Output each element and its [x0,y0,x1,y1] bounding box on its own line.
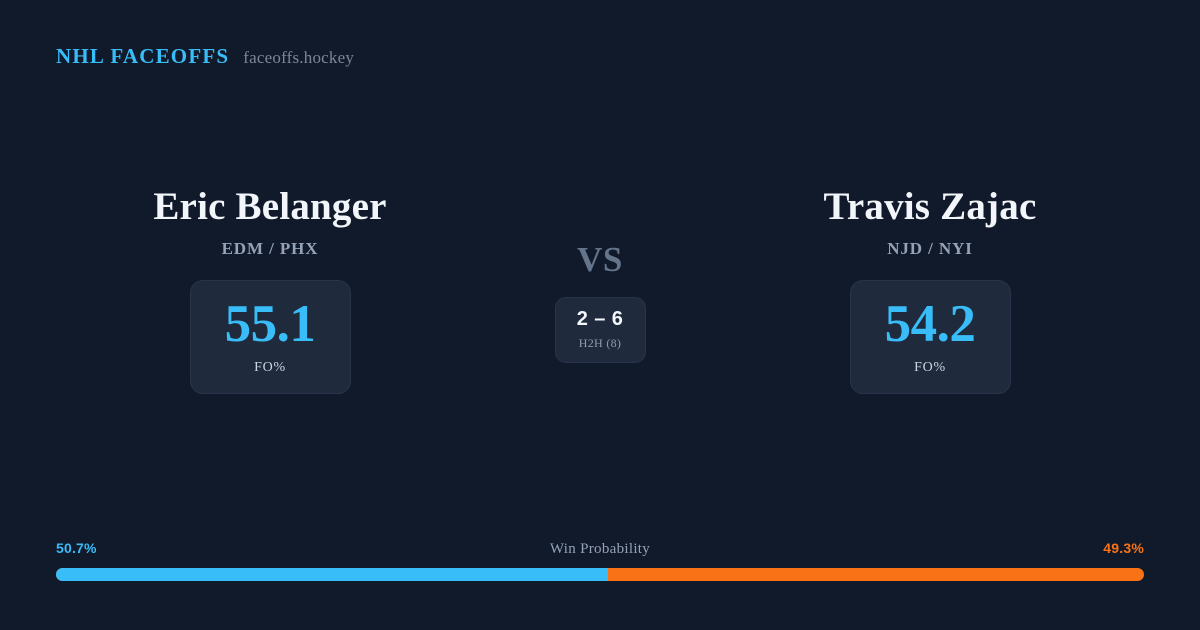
stat-card-left: 55.1 FO% [190,280,351,394]
win-probability-section: 50.7% Win Probability 49.3% [56,540,1144,581]
win-probability-title: Win Probability [56,541,1144,558]
stat-label-left: FO% [254,360,286,376]
head-to-head-score: 2 – 6 [577,309,623,329]
player-card-right[interactable]: Travis Zajac NJD / NYI 54.2 FO% [700,186,1160,394]
matchup-row: Eric Belanger EDM / PHX 55.1 FO% VS 2 – … [0,186,1200,394]
versus-label: VS [577,242,623,277]
stat-label-right: FO% [914,360,946,376]
win-probability-right-value: 49.3% [1103,540,1144,556]
brand-header: NHL FACEOFFS faceoffs.hockey [56,46,354,67]
versus-column: VS 2 – 6 H2H (8) [500,186,700,363]
head-to-head-label: H2H (8) [579,336,621,351]
head-to-head-card: 2 – 6 H2H (8) [555,297,646,363]
stat-value-right: 54.2 [885,298,976,351]
player-teams-left: EDM / PHX [222,239,319,259]
player-name-left: Eric Belanger [153,186,386,228]
player-name-right: Travis Zajac [824,186,1037,228]
win-probability-labels: 50.7% Win Probability 49.3% [56,540,1144,562]
stat-value-left: 55.1 [225,298,316,351]
matchup-graphic: NHL FACEOFFS faceoffs.hockey Eric Belang… [0,0,1200,630]
brand-title: NHL FACEOFFS [56,46,229,67]
player-teams-right: NJD / NYI [887,239,973,259]
brand-domain: faceoffs.hockey [243,49,354,66]
win-probability-bar-left-fill [56,568,608,581]
win-probability-bar [56,568,1144,581]
stat-card-right: 54.2 FO% [850,280,1011,394]
player-card-left[interactable]: Eric Belanger EDM / PHX 55.1 FO% [40,186,500,394]
